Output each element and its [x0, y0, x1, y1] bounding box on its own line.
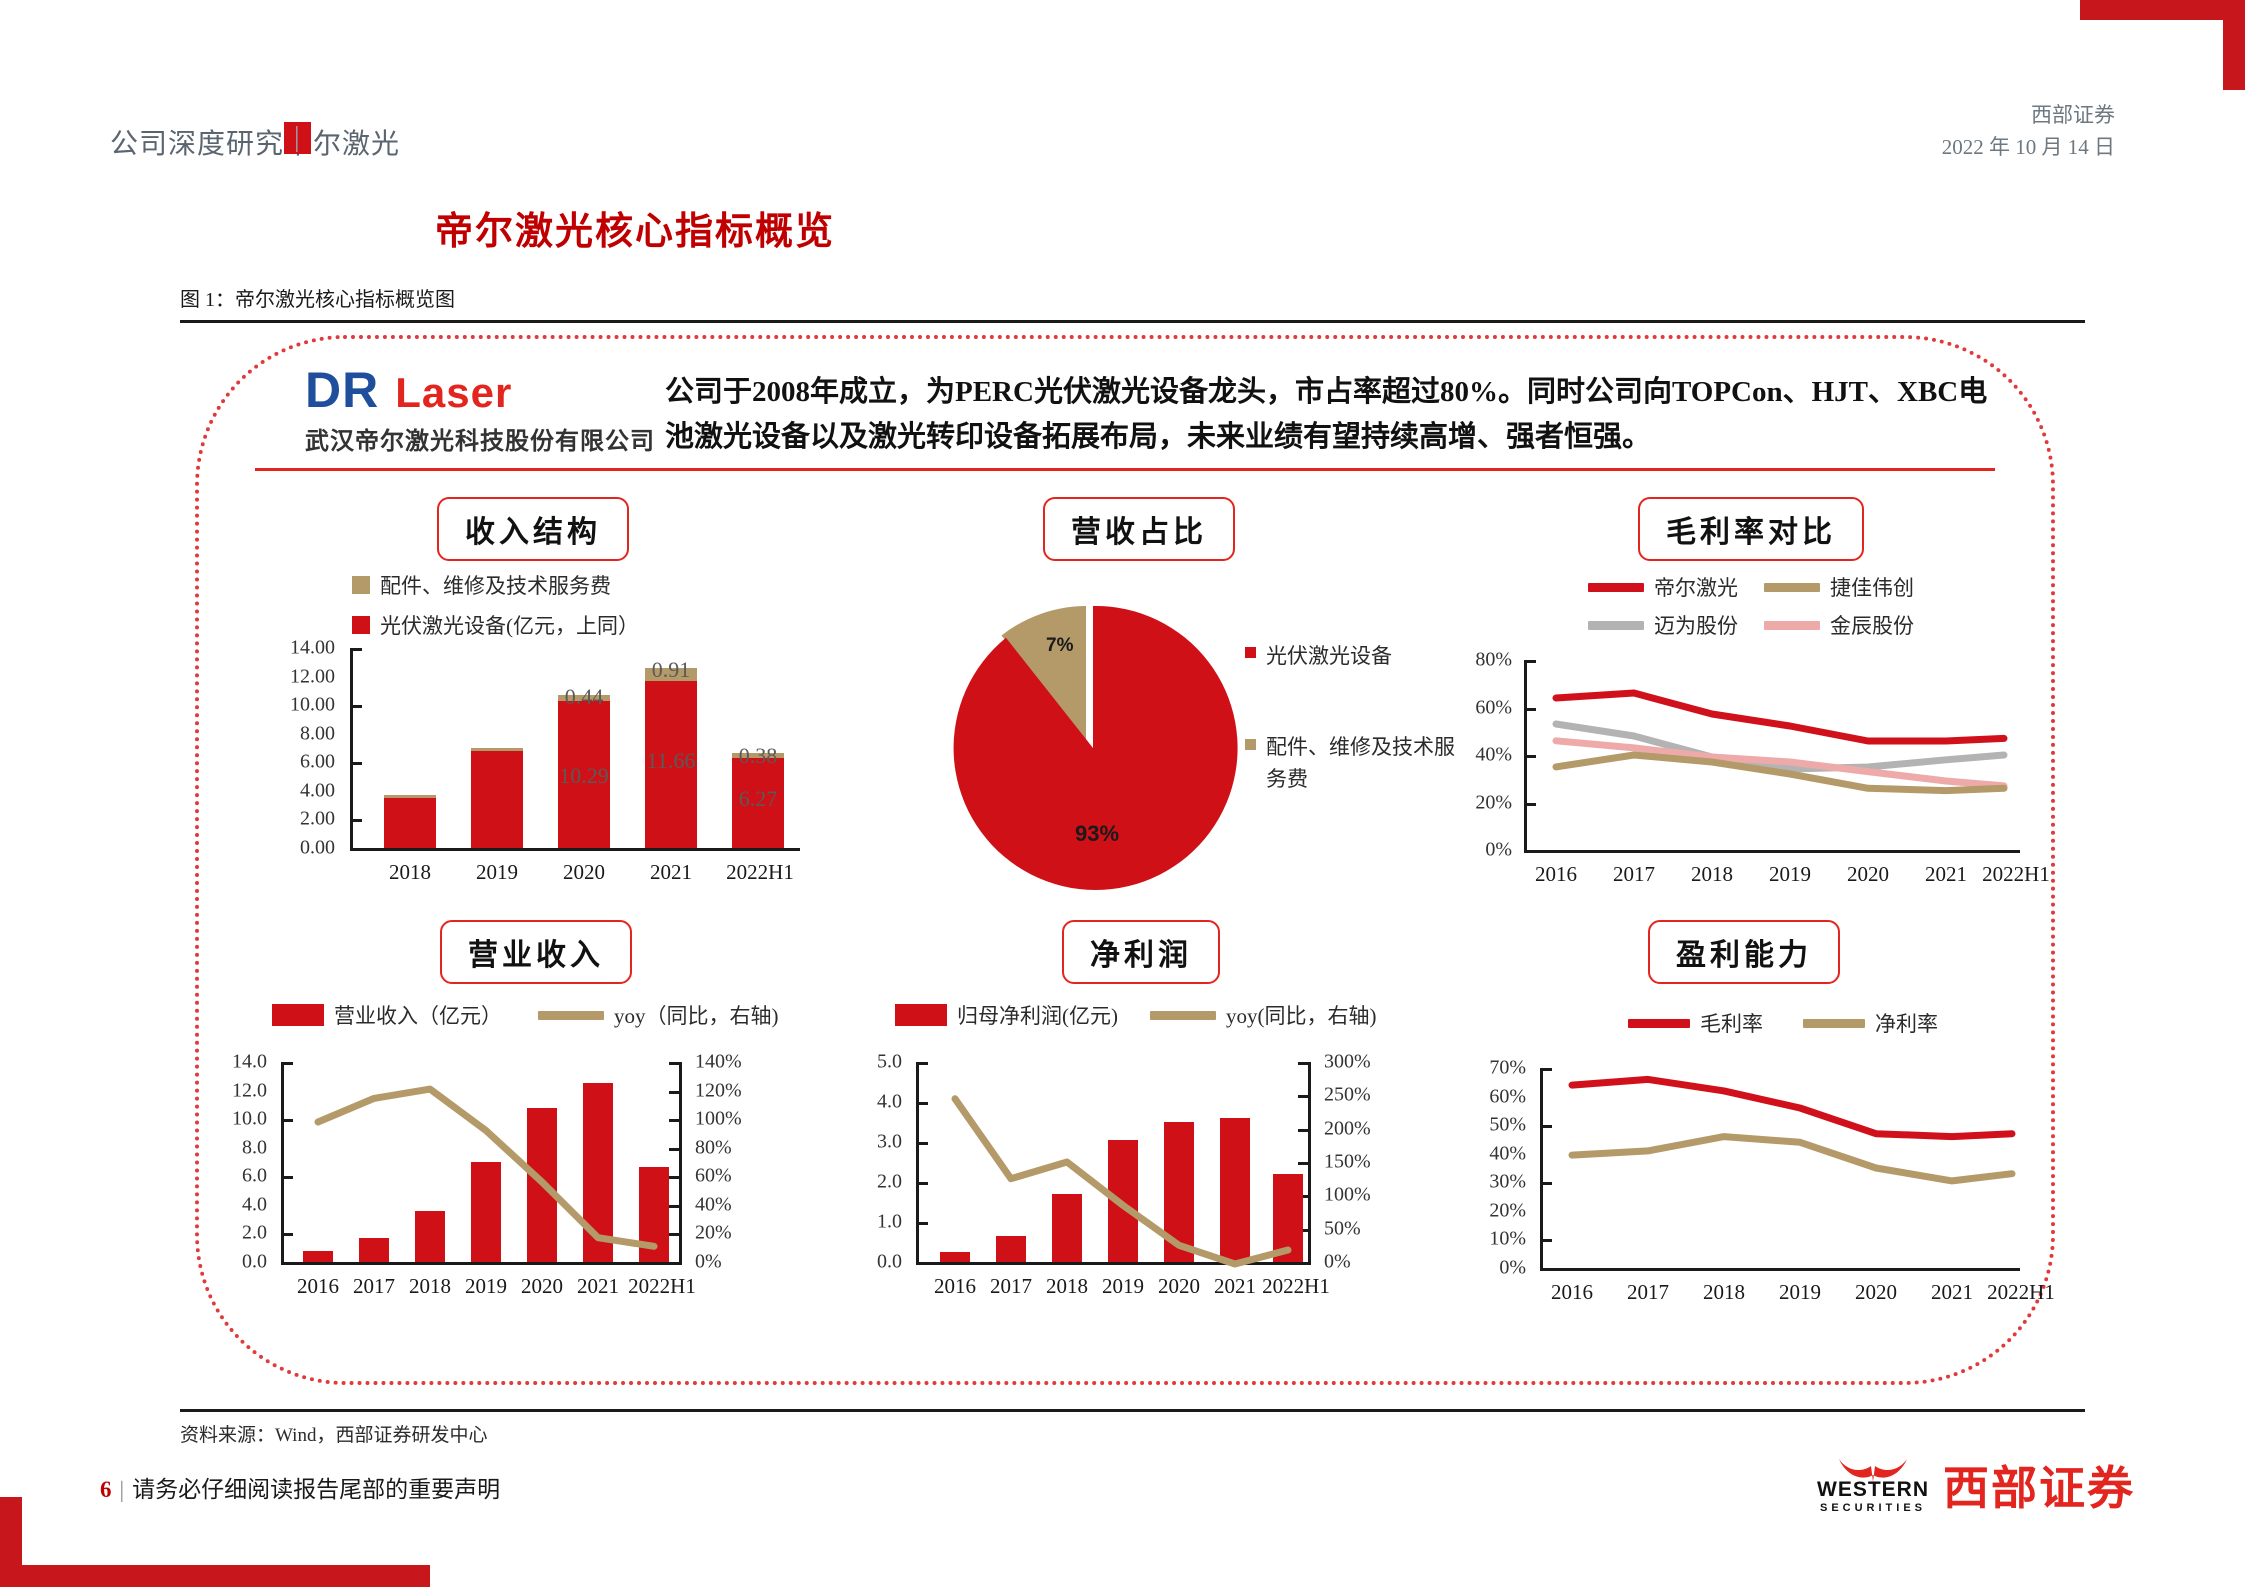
x-axis-tick-label: 2022H1	[1982, 862, 2050, 887]
legend-swatch-icon	[352, 576, 370, 594]
brand-text-western: WESTERN	[1817, 1479, 1929, 1500]
bar-segment	[471, 751, 523, 848]
western-securities-logo: WESTERN SECURITIES 西部证券	[1817, 1452, 2135, 1518]
y2-axis-tick-label: 40%	[695, 1193, 785, 1216]
legend-label: 光伏激光设备(亿元，上同）	[380, 610, 639, 640]
y-axis-tick-label: 2.00	[235, 808, 335, 831]
logo-text-dr: DR	[305, 362, 379, 418]
legend-label: 光伏激光设备	[1266, 640, 1392, 670]
x-axis-tick-label: 2016	[1535, 862, 1577, 887]
page-footer: 6|请务必仔细阅读报告尾部的重要声明	[100, 1470, 500, 1504]
logo-company-name: 武汉帝尔激光科技股份有限公司	[305, 421, 655, 456]
brand-text-chinese: 西部证券	[1943, 1452, 2135, 1518]
chart-plot-revenue-structure: 14.00 12.00 10.00 8.00 6.00 4.00 2.00 0.…	[240, 648, 820, 878]
legend-item: 归母净利润(亿元)	[895, 1000, 1118, 1030]
line-series-yoy	[318, 1089, 654, 1246]
bar-segment	[384, 798, 436, 848]
x-axis-tick-label: 2017	[1627, 1280, 1669, 1305]
company-description: 公司于2008年成立，为PERC光伏激光设备龙头，市占率超过80%。同时公司向T…	[665, 370, 2005, 460]
y2-axis-tick-label: 80%	[695, 1136, 785, 1159]
x-axis-tick-label: 2018	[1703, 1280, 1745, 1305]
x-axis-tick-label: 2018	[1691, 862, 1733, 887]
bar-segment	[471, 748, 523, 751]
chart-plot-net-profit: 5.0 4.0 3.0 2.0 1.0 0.0 300% 250% 200% 1…	[830, 1062, 1450, 1302]
legend-label: 营业收入（亿元）	[334, 1000, 502, 1030]
legend-label: 金辰股份	[1830, 610, 1914, 640]
y2-axis-tick-label: 140%	[695, 1051, 785, 1074]
legend-line-icon	[1588, 583, 1644, 592]
y-axis-tick-label: 6.0	[185, 1165, 267, 1188]
brand-text-securities: SECURITIES	[1820, 1503, 1926, 1514]
gross-margin-lines-svg	[1524, 660, 2024, 852]
y-axis-tick-label: 4.0	[830, 1091, 902, 1114]
x-axis-tick-label: 2022H1	[1987, 1280, 2055, 1305]
x-axis-tick-label: 2021	[1925, 862, 1967, 887]
yoy-line-svg	[281, 1062, 681, 1264]
legend-line-icon	[1803, 1019, 1865, 1028]
legend-item: 营业收入（亿元）	[272, 1000, 502, 1030]
x-axis-tick-label: 2019	[476, 860, 518, 885]
y2-axis-tick-label: 300%	[1324, 1051, 1424, 1074]
chart-title-revenue-share: 营收占比	[1043, 497, 1235, 561]
chart-title-gross-margin: 毛利率对比	[1638, 497, 1864, 561]
y-axis-tick-label: 2.0	[185, 1222, 267, 1245]
figure-source: 资料来源：Wind，西部证券研发中心	[180, 1420, 487, 1447]
x-axis-tick-label: 2020	[563, 860, 605, 885]
legend-item: 金辰股份	[1764, 610, 1914, 640]
legend-label: 净利率	[1875, 1008, 1938, 1038]
y2-axis-tick-label: 200%	[1324, 1117, 1424, 1140]
header-firm-name: 西部证券	[1942, 100, 2115, 132]
x-axis-tick-label: 2017	[1613, 862, 1655, 887]
logo-text-laser: Laser	[395, 369, 512, 416]
x-axis-tick-label: 2021	[1931, 1280, 1973, 1305]
y-axis-tick-label: 30%	[1448, 1171, 1526, 1194]
bar-data-label: 10.29	[559, 763, 609, 789]
x-axis-tick-label: 2022H1	[628, 1274, 696, 1299]
x-axis-tick-label: 2016	[1551, 1280, 1593, 1305]
line-series-net-margin	[1572, 1137, 2012, 1181]
legend-net-profit: 归母净利润(亿元) yoy(同比，右轴)	[895, 1000, 1377, 1030]
x-axis-tick-label: 2017	[990, 1274, 1032, 1299]
x-axis-tick-label: 2022H1	[726, 860, 794, 885]
x-axis-tick-label: 2016	[934, 1274, 976, 1299]
y-axis-tick-label: 8.0	[185, 1136, 267, 1159]
legend-line-icon	[1588, 621, 1644, 630]
corner-decoration-bottom-left-horizontal	[0, 1565, 430, 1587]
y-axis-tick	[350, 705, 362, 708]
page-title: 帝尔激光核心指标概览	[435, 200, 835, 255]
legend-label: yoy（同比，右轴)	[614, 1000, 779, 1030]
y2-axis-tick-label: 100%	[695, 1108, 785, 1131]
y2-axis-tick-label: 0%	[695, 1251, 785, 1274]
y-axis-tick-label: 12.0	[185, 1079, 267, 1102]
x-axis-tick-label: 2020	[521, 1274, 563, 1299]
chart-title-profitability: 盈利能力	[1648, 920, 1840, 984]
page-number: 6	[100, 1477, 112, 1502]
x-axis-line	[350, 848, 800, 851]
figure-rule-top	[180, 320, 2085, 323]
y-axis-tick-label: 6.00	[235, 751, 335, 774]
y-axis-tick-label: 2.0	[830, 1171, 902, 1194]
y-axis-tick-label: 14.00	[235, 637, 335, 660]
legend-item: 配件、维修及技术服务费	[352, 570, 639, 600]
legend-line-icon	[1628, 1019, 1690, 1028]
y2-axis-tick-label: 60%	[695, 1165, 785, 1188]
header-report-type: 公司深度研究	[110, 129, 284, 160]
chart-plot-gross-margin: 80% 60% 40% 20% 0% 2016 2017 2018 2019 2…	[1440, 660, 2040, 890]
y2-axis-tick-label: 20%	[695, 1222, 785, 1245]
bar-data-label: 0.38	[739, 743, 778, 769]
y-axis-tick-label: 0%	[1440, 839, 1512, 862]
corner-decoration-top-right-vertical	[2223, 0, 2245, 90]
y-axis-tick-label: 10.00	[235, 694, 335, 717]
pie-chart-svg: 7% 93%	[945, 600, 1235, 890]
y-axis-tick-label: 14.0	[185, 1051, 267, 1074]
y-axis-tick-label: 3.0	[830, 1131, 902, 1154]
y-axis-tick-label: 10%	[1448, 1228, 1526, 1251]
y-axis-tick-label: 8.00	[235, 722, 335, 745]
y-axis-tick-label: 60%	[1448, 1085, 1526, 1108]
legend-operating-revenue: 营业收入（亿元） yoy（同比，右轴)	[272, 1000, 779, 1030]
y-axis-tick	[350, 648, 362, 651]
line-series-gross-margin	[1572, 1079, 2012, 1136]
legend-profitability: 毛利率 净利率	[1628, 1008, 1938, 1038]
x-axis-tick-label: 2018	[409, 1274, 451, 1299]
legend-label: 毛利率	[1700, 1008, 1763, 1038]
legend-item: 捷佳伟创	[1764, 572, 1914, 602]
y-axis-tick-label: 20%	[1440, 791, 1512, 814]
legend-item: 净利率	[1803, 1008, 1938, 1038]
legend-swatch-icon	[1245, 739, 1256, 750]
legend-swatch-icon	[352, 616, 370, 634]
legend-line-icon	[1764, 583, 1820, 592]
x-axis-tick-label: 2021	[1214, 1274, 1256, 1299]
legend-label: 迈为股份	[1654, 610, 1738, 640]
y-axis-tick-label: 0.0	[185, 1251, 267, 1274]
y-axis-tick-label: 1.0	[830, 1211, 902, 1234]
y-axis-tick-label: 40%	[1440, 744, 1512, 767]
dr-laser-logo: DRLaser 武汉帝尔激光科技股份有限公司	[305, 365, 655, 456]
x-axis-tick-label: 2020	[1158, 1274, 1200, 1299]
y-axis-tick-label: 20%	[1448, 1199, 1526, 1222]
y-axis-tick-label: 70%	[1448, 1057, 1526, 1080]
x-axis-tick-label: 2016	[297, 1274, 339, 1299]
y-axis-tick-label: 0%	[1448, 1257, 1526, 1280]
x-axis-tick-label: 2021	[650, 860, 692, 885]
y-axis-tick	[350, 819, 362, 822]
figure-caption: 图 1：帝尔激光核心指标概览图	[180, 283, 455, 312]
legend-swatch-icon	[895, 1004, 947, 1026]
x-axis-tick-label: 2020	[1847, 862, 1889, 887]
y-axis-tick	[350, 762, 362, 765]
line-series-yoy	[955, 1099, 1288, 1264]
y-axis-tick-label: 10.0	[185, 1108, 267, 1131]
legend-revenue-structure: 配件、维修及技术服务费 光伏激光设备(亿元，上同）	[352, 570, 639, 650]
y-axis-tick-label: 4.00	[235, 779, 335, 802]
x-axis-tick-label: 2019	[465, 1274, 507, 1299]
legend-swatch-icon	[272, 1004, 324, 1026]
bar-data-label: 11.66	[647, 748, 696, 774]
x-axis-tick-label: 2019	[1779, 1280, 1821, 1305]
legend-line-icon	[1764, 621, 1820, 630]
pie-slice-equipment	[954, 606, 1238, 890]
y2-axis-tick-label: 250%	[1324, 1084, 1424, 1107]
document-header-right: 西部证券 2022 年 10 月 14 日	[1942, 100, 2115, 163]
y2-axis-tick-label: 50%	[1324, 1217, 1424, 1240]
bar-data-label: 6.27	[739, 786, 778, 812]
x-axis-tick-label: 2018	[1046, 1274, 1088, 1299]
legend-label: 归母净利润(亿元)	[957, 1000, 1118, 1030]
x-axis-tick-label: 2021	[577, 1274, 619, 1299]
document-header-left: 公司深度研究|帝尔激光	[110, 122, 400, 162]
chart-title-revenue-structure: 收入结构	[437, 497, 629, 561]
legend-label: 捷佳伟创	[1830, 572, 1914, 602]
legend-line-icon	[538, 1011, 604, 1020]
figure-rule-bottom	[180, 1409, 2085, 1412]
x-axis-tick-label: 2022H1	[1262, 1274, 1330, 1299]
chart-title-operating-revenue: 营业收入	[440, 920, 632, 984]
header-separator: |	[284, 122, 311, 154]
bar-segment	[384, 795, 436, 797]
footer-separator: |	[112, 1477, 133, 1502]
legend-label: 配件、维修及技术服务费	[380, 570, 611, 600]
bar-data-label: 0.44	[565, 684, 604, 710]
x-axis-tick-label: 2019	[1769, 862, 1811, 887]
y-axis-tick-label: 50%	[1448, 1114, 1526, 1137]
profitability-lines-svg	[1540, 1068, 2024, 1270]
y-axis-tick-label: 0.00	[235, 837, 335, 860]
bar-data-label: 0.91	[652, 657, 691, 683]
y-axis-tick-label: 40%	[1448, 1142, 1526, 1165]
chart-title-net-profit: 净利润	[1062, 920, 1220, 984]
y-axis-tick-label: 12.00	[235, 665, 335, 688]
y-axis-tick-label: 4.0	[185, 1193, 267, 1216]
brand-mark: WESTERN SECURITIES	[1817, 1457, 1929, 1514]
legend-swatch-icon	[1245, 647, 1256, 658]
y2-axis-tick-label: 150%	[1324, 1151, 1424, 1174]
chart-plot-profitability: 70% 60% 50% 40% 30% 20% 10% 0% 2016 2017…	[1448, 1068, 2048, 1308]
x-axis-tick-label: 2019	[1102, 1274, 1144, 1299]
pie-label-equipment: 93%	[1075, 821, 1119, 846]
legend-item: 迈为股份	[1588, 610, 1738, 640]
x-axis-tick-label: 2018	[389, 860, 431, 885]
header-date: 2022 年 10 月 14 日	[1942, 132, 2115, 164]
y2-axis-tick-label: 100%	[1324, 1184, 1424, 1207]
y-axis-tick-label: 5.0	[830, 1051, 902, 1074]
legend-item: 毛利率	[1628, 1008, 1763, 1038]
y-axis-tick-label: 80%	[1440, 649, 1512, 672]
y2-axis-tick-label: 120%	[695, 1079, 785, 1102]
x-axis-tick-label: 2020	[1855, 1280, 1897, 1305]
legend-gross-margin: 帝尔激光 捷佳伟创 迈为股份 金辰股份	[1588, 572, 2018, 640]
y2-axis-tick-label: 0%	[1324, 1251, 1424, 1274]
legend-label: 帝尔激光	[1654, 572, 1738, 602]
legend-item: yoy（同比，右轴)	[538, 1000, 779, 1030]
banner-divider	[255, 468, 1995, 471]
pie-label-accessories: 7%	[1046, 635, 1074, 656]
y-axis-tick-label: 60%	[1440, 696, 1512, 719]
x-axis-tick-label: 2017	[353, 1274, 395, 1299]
legend-item: 帝尔激光	[1588, 572, 1738, 602]
legend-label: yoy(同比，右轴)	[1226, 1000, 1377, 1030]
chart-plot-revenue-share: 7% 93%	[945, 600, 1235, 890]
legend-item: 光伏激光设备(亿元，上同）	[352, 610, 639, 640]
legend-item: yoy(同比，右轴)	[1150, 1000, 1377, 1030]
legend-line-icon	[1150, 1011, 1216, 1020]
corner-decoration-top-right-horizontal	[2080, 0, 2245, 20]
yoy-line-svg	[916, 1062, 1310, 1264]
chart-plot-operating-revenue: 14.0 12.0 10.0 8.0 6.0 4.0 2.0 0.0 140% …	[185, 1062, 825, 1302]
y-axis-tick-label: 0.0	[830, 1251, 902, 1274]
footer-disclaimer: 请务必仔细阅读报告尾部的重要声明	[132, 1477, 500, 1502]
